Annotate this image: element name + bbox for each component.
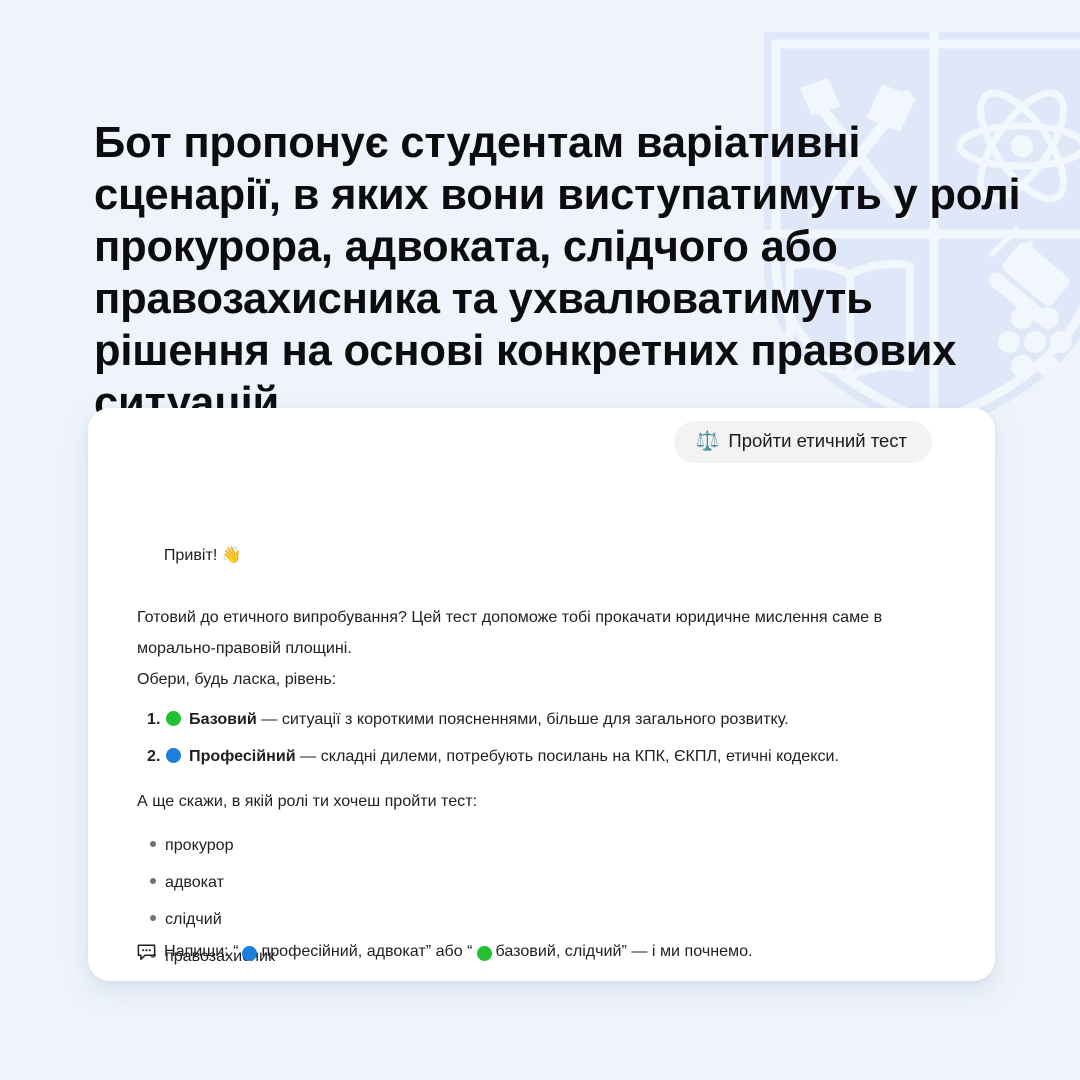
blue-circle-icon <box>166 748 181 763</box>
user-message-text: Пройти етичний тест <box>728 432 907 451</box>
footer-text-part3: базовий, слідчий” — і ми почнемо. <box>496 939 753 963</box>
list-item[interactable]: слідчий <box>137 904 955 941</box>
green-circle-icon <box>477 946 492 961</box>
level-name: Базовий <box>189 710 257 728</box>
bot-message: Привіт! 👋 Готовий до етичного випробуван… <box>137 509 955 981</box>
level-list: 1. Базовий — ситуації з короткими поясне… <box>137 707 955 768</box>
level-number: 2. <box>137 744 166 768</box>
level-description: — ситуації з короткими поясненнями, біль… <box>257 710 789 728</box>
bot-footer-hint: Напиши: “ професійний, адвокат” або “ ба… <box>137 939 753 963</box>
waving-hand-emoji: 👋 <box>222 547 242 564</box>
bot-levels-prompt: Обери, будь ласка, рівень: <box>137 664 955 695</box>
speech-balloon-icon <box>137 944 156 961</box>
bot-roles-prompt: А ще скажи, в якій ролі ти хочеш пройти … <box>137 786 955 817</box>
level-name: Професійний <box>189 747 296 765</box>
green-circle-icon <box>166 711 181 726</box>
role-label: монітор/спостерігач <box>165 978 312 981</box>
user-message-row: ⚖️ Пройти етичний тест <box>674 421 932 463</box>
list-item[interactable]: прокурор <box>137 830 955 867</box>
bullet-icon <box>137 875 165 890</box>
level-number: 1. <box>137 707 166 731</box>
level-label: Професійний — складні дилеми, потребують… <box>189 744 839 768</box>
list-item[interactable]: адвокат <box>137 867 955 904</box>
bot-intro-text: Готовий до етичного випробування? Цей те… <box>137 602 955 664</box>
user-message-bubble[interactable]: ⚖️ Пройти етичний тест <box>674 421 932 463</box>
level-item-basic[interactable]: 1. Базовий — ситуації з короткими поясне… <box>137 707 955 731</box>
footer-text-part1: Напиши: “ <box>164 939 238 963</box>
footer-text-part2: професійний, адвокат” або “ <box>261 939 472 963</box>
scales-emoji: ⚖️ <box>696 432 720 451</box>
list-item[interactable]: монітор/спостерігач <box>137 978 955 981</box>
role-label: прокурор <box>165 830 234 861</box>
bullet-icon <box>137 912 165 927</box>
blue-circle-icon <box>242 946 257 961</box>
bot-greeting-line: Привіт! 👋 <box>137 509 955 602</box>
bullet-icon <box>137 838 165 853</box>
role-label: адвокат <box>165 867 224 898</box>
bot-greeting-text: Привіт! <box>164 546 222 564</box>
role-label: слідчий <box>165 904 222 935</box>
page-headline: Бот пропонує студентам варіативні сценар… <box>94 117 1024 429</box>
level-label: Базовий — ситуації з короткими пояснення… <box>189 707 789 731</box>
level-description: — складні дилеми, потребують посилань на… <box>296 747 839 765</box>
chat-card: ⚖️ Пройти етичний тест Привіт! 👋 Готовий… <box>88 408 995 981</box>
level-item-professional[interactable]: 2. Професійний — складні дилеми, потребу… <box>137 744 955 768</box>
